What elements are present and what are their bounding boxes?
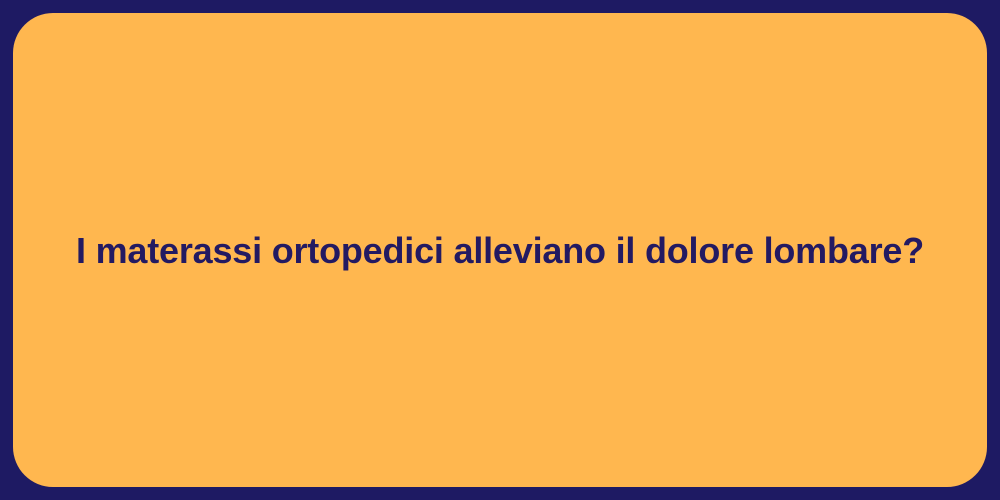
headline-card: I materassi ortopedici alleviano il dolo… (13, 13, 987, 487)
page-background: I materassi ortopedici alleviano il dolo… (0, 0, 1000, 500)
headline-text: I materassi ortopedici alleviano il dolo… (36, 228, 964, 273)
